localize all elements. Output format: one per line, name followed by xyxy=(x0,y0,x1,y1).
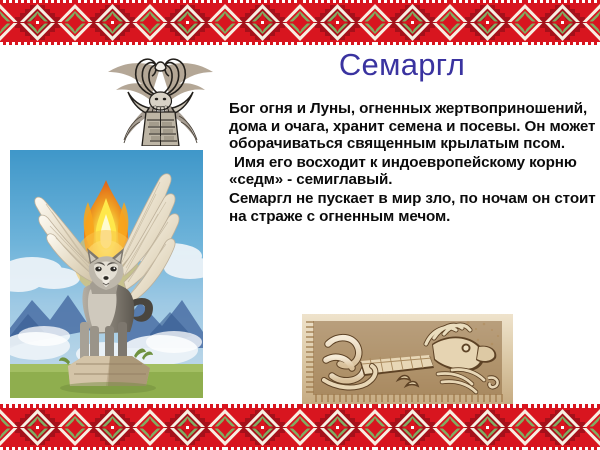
ornament-pattern-top-icon xyxy=(0,0,600,45)
winged-wolf-fire-icon xyxy=(10,150,203,398)
winged-wolf-fire-image xyxy=(10,150,203,398)
paragraph-1: Бог огня и Луны, огненных жертвоприношен… xyxy=(229,100,597,153)
top-ornament-band xyxy=(0,0,600,45)
paragraph-3: Семаргл не пускает в мир зло, по ночам о… xyxy=(229,190,597,225)
paragraph-2: Имя его восходит к индоевропейскому корн… xyxy=(229,154,597,189)
ornament-pattern-bottom-icon xyxy=(0,404,600,450)
body-text-block: Бог огня и Луны, огненных жертвоприношен… xyxy=(229,100,597,226)
page-title: Семаргл xyxy=(252,48,552,82)
engraving-winged-deity-image xyxy=(98,46,223,146)
carved-relief-beast-icon xyxy=(302,314,513,404)
bottom-ornament-band xyxy=(0,404,600,450)
carved-relief-beast-image xyxy=(302,314,513,404)
engraving-winged-deity-icon xyxy=(98,46,223,146)
slide-canvas: Семаргл Бог огня и Луны, огненных жертво… xyxy=(0,0,600,450)
